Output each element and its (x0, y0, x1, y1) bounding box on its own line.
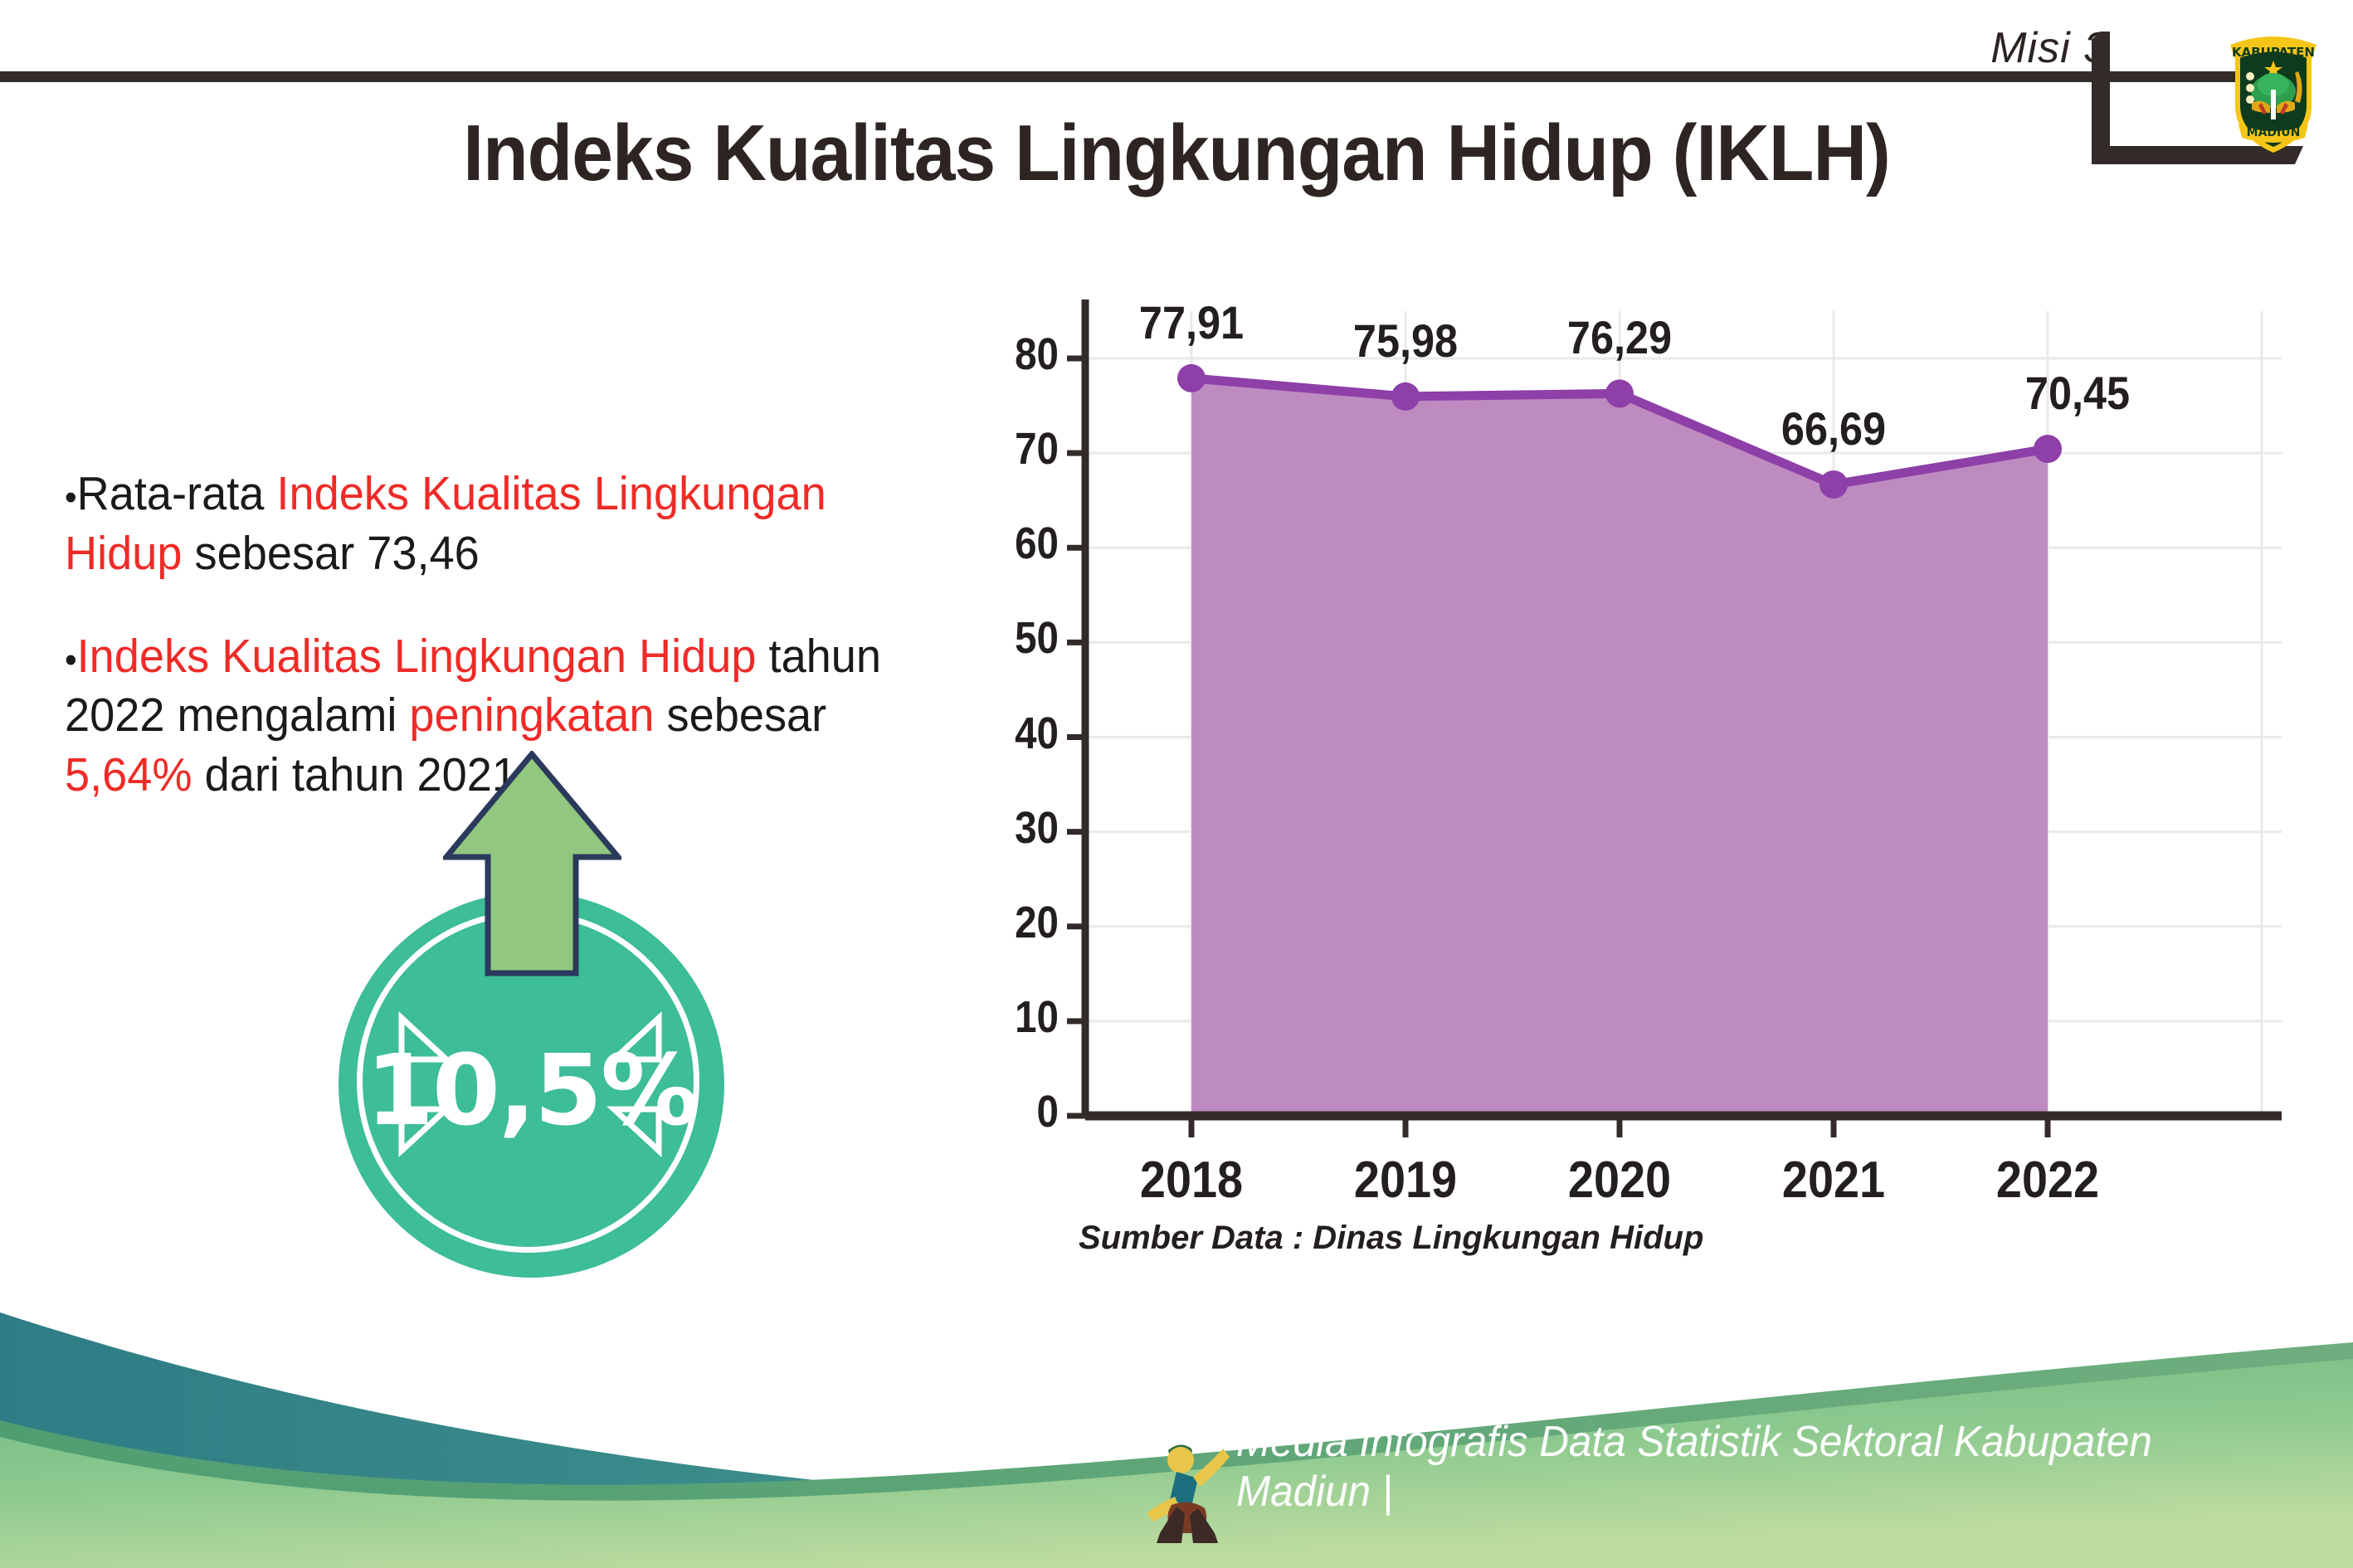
arrow-up-icon (443, 751, 621, 979)
data-label: 77,91 (1094, 295, 1289, 349)
bullet-2-highlight-1: Indeks Kualitas Lingkungan Hidup (77, 630, 757, 683)
source-note: Sumber Data : Dinas Lingkungan Hidup (1079, 1220, 1703, 1257)
data-label: 75,98 (1308, 314, 1503, 368)
x-tick-label: 2018 (1094, 1151, 1289, 1210)
bullet-2-highlight-3: 5,64% (65, 748, 192, 801)
x-tick-label: 2021 (1737, 1151, 1931, 1210)
increase-badge: 10,5% (314, 751, 745, 1203)
bullet-item-average: •Rata-rata Indeks Kualitas Lingkungan Hi… (65, 465, 948, 584)
data-label: 70,45 (1980, 366, 2175, 420)
data-label: 66,69 (1737, 402, 1931, 455)
svg-text:KABUPATEN: KABUPATEN (2232, 45, 2315, 60)
y-tick-label: 40 (978, 708, 1059, 759)
y-tick-label: 50 (978, 612, 1059, 664)
x-tick-label: 2020 (1522, 1151, 1717, 1210)
x-tick-label: 2022 (1951, 1151, 2145, 1210)
running-person-icon (1143, 1435, 1235, 1547)
y-tick-label: 60 (978, 518, 1059, 569)
bullet-dot-icon: • (65, 477, 77, 518)
bullet-1-lead: Rata-rata (77, 467, 277, 520)
bullet-2-mid-2: sebesar (654, 689, 826, 742)
bullet-dot-icon: • (65, 640, 77, 680)
data-label: 76,29 (1522, 310, 1717, 364)
y-tick-label: 20 (978, 897, 1059, 948)
bullet-1-tail: sebesar 73,46 (182, 527, 479, 580)
badge-value: 10,5% (339, 1033, 724, 1147)
y-tick-label: 70 (978, 423, 1059, 475)
iklh-area-chart: 01020304050607080 20182019202020212022 7… (987, 295, 2282, 1282)
bullet-2-highlight-2: peningkatan (409, 689, 654, 742)
chart-plot-area (987, 295, 2282, 1166)
page-title: Indeks Kualitas Lingkungan Hidup (IKLH) (82, 108, 2270, 199)
y-tick-label: 10 (978, 991, 1059, 1043)
header-rule (0, 71, 2240, 82)
y-tick-label: 80 (978, 329, 1059, 380)
y-tick-label: 30 (978, 802, 1059, 854)
mission-label: Misi 3 (1990, 23, 2108, 73)
y-tick-label: 0 (978, 1086, 1059, 1137)
x-tick-label: 2019 (1308, 1151, 1503, 1210)
footer-text: Media Infografis Data Statistik Sektoral… (1236, 1417, 2297, 1517)
